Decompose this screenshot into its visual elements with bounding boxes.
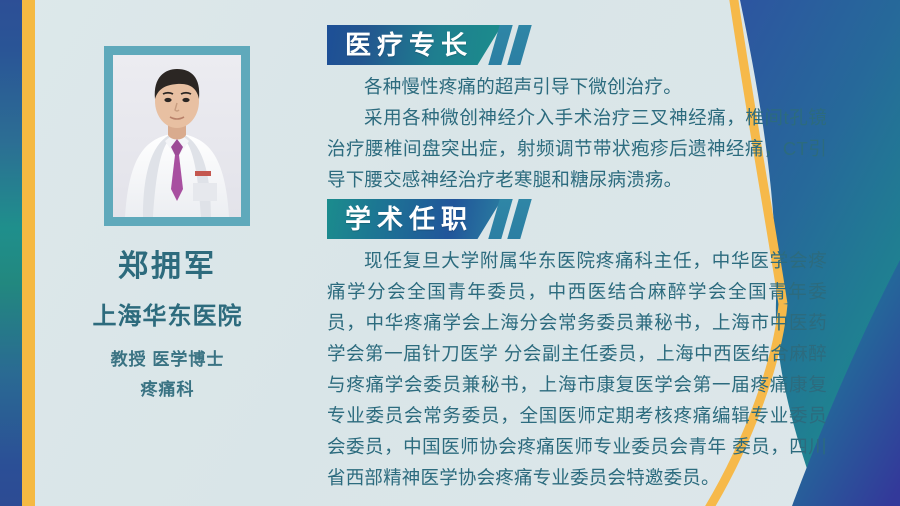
- section-positions-body: 现任复旦大学附属华东医院疼痛科主任，中华医学会疼痛学分会全国青年委员，中西医结合…: [327, 245, 827, 493]
- section-specialty-header: 医疗专长: [327, 25, 837, 65]
- left-gradient-stripe: [0, 0, 22, 506]
- paragraph: 采用各种微创神经介入手术治疗三叉神经痛，椎间t孔镜治疗腰椎间盘突出症，射频调节带…: [327, 102, 827, 195]
- paragraph: 各种慢性疼痛的超声引导下微创治疗。: [327, 71, 827, 102]
- section-positions-header: 学术任职: [327, 199, 837, 239]
- section-specialty: 医疗专长 各种慢性疼痛的超声引导下微创治疗。 采用各种微创神经介入手术治疗三叉神…: [327, 25, 837, 195]
- section-specialty-body: 各种慢性疼痛的超声引导下微创治疗。 采用各种微创神经介入手术治疗三叉神经痛，椎间…: [327, 71, 827, 195]
- credentials-line: 教授 医学博士: [35, 348, 300, 373]
- paragraph: 现任复旦大学附属华东医院疼痛科主任，中华医学会疼痛学分会全国青年委员，中西医结合…: [327, 245, 827, 493]
- left-yellow-accent-stripe: [22, 0, 35, 506]
- content-column: 医疗专长 各种慢性疼痛的超声引导下微创治疗。 采用各种微创神经介入手术治疗三叉神…: [327, 0, 837, 506]
- doctor-name: 郑拥军: [35, 248, 300, 286]
- portrait-photo: [113, 55, 241, 217]
- section-positions: 学术任职 现任复旦大学附属华东医院疼痛科主任，中华医学会疼痛学分会全国青年委员，…: [327, 199, 837, 493]
- portrait-frame: [104, 46, 250, 226]
- hospital-name: 上海华东医院: [35, 302, 300, 332]
- section-positions-title: 学术任职: [345, 202, 473, 237]
- section-specialty-title: 医疗专长: [345, 28, 473, 63]
- name-block: 郑拥军 上海华东医院 教授 医学博士 疼痛科: [35, 248, 300, 403]
- department-line: 疼痛科: [35, 378, 300, 403]
- doctor-profile-slide: 郑拥军 上海华东医院 教授 医学博士 疼痛科 医疗专长 各种慢性疼痛的超声引导下…: [0, 0, 900, 506]
- portrait-illustration: [113, 55, 241, 217]
